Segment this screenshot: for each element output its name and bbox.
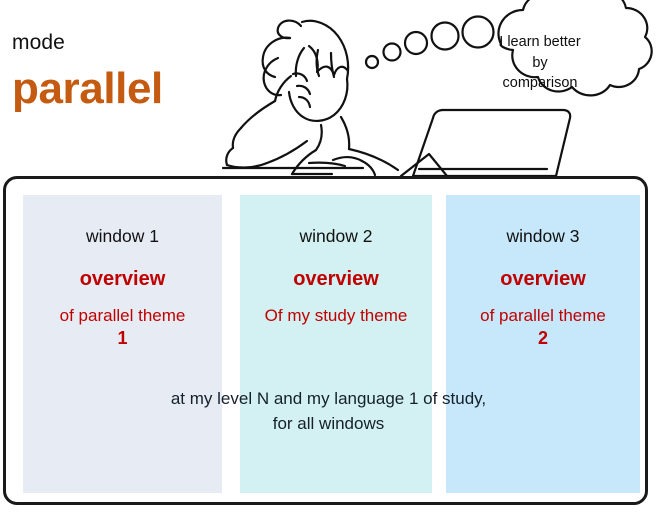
window-panel-2-subtitle-text: Of my study theme — [265, 306, 408, 325]
window-panel-1-title: window 1 — [23, 228, 222, 246]
window-panel-2-heading: overview — [240, 269, 432, 289]
window-panel-3-heading: overview — [446, 269, 640, 289]
window-panel-3-subtitle: of parallel theme 2 — [446, 305, 640, 350]
thought-bubble-text: I learn better by comparison — [470, 32, 610, 94]
window-panel-2-subtitle: Of my study theme — [240, 305, 432, 327]
thought-bubble-line-3: comparison — [503, 75, 578, 91]
header: mode parallel — [0, 0, 656, 176]
window-panel-3-subtitle-text: of parallel theme — [480, 306, 606, 325]
thought-bubble-line-1: I learn better — [499, 34, 580, 50]
mode-label: mode — [12, 32, 65, 53]
mode-value: parallel — [12, 66, 163, 112]
window-panel-3-title: window 3 — [446, 228, 640, 246]
window-panel-2-title: window 2 — [240, 228, 432, 246]
windows-frame: window 1 overview of parallel theme 1 wi… — [3, 176, 648, 505]
window-panel-1-subtitle-text: of parallel theme — [60, 306, 186, 325]
window-panel-1-heading: overview — [23, 269, 222, 289]
window-panel-1-number: 1 — [23, 327, 222, 350]
window-panel-3-number: 2 — [446, 327, 640, 350]
window-panel-2[interactable]: window 2 overview Of my study theme — [240, 195, 432, 493]
window-panel-1[interactable]: window 1 overview of parallel theme 1 — [23, 195, 222, 493]
thought-bubble-line-2: by — [532, 55, 547, 71]
window-panel-3[interactable]: window 3 overview of parallel theme 2 — [446, 195, 640, 493]
window-panel-1-subtitle: of parallel theme 1 — [23, 305, 222, 350]
